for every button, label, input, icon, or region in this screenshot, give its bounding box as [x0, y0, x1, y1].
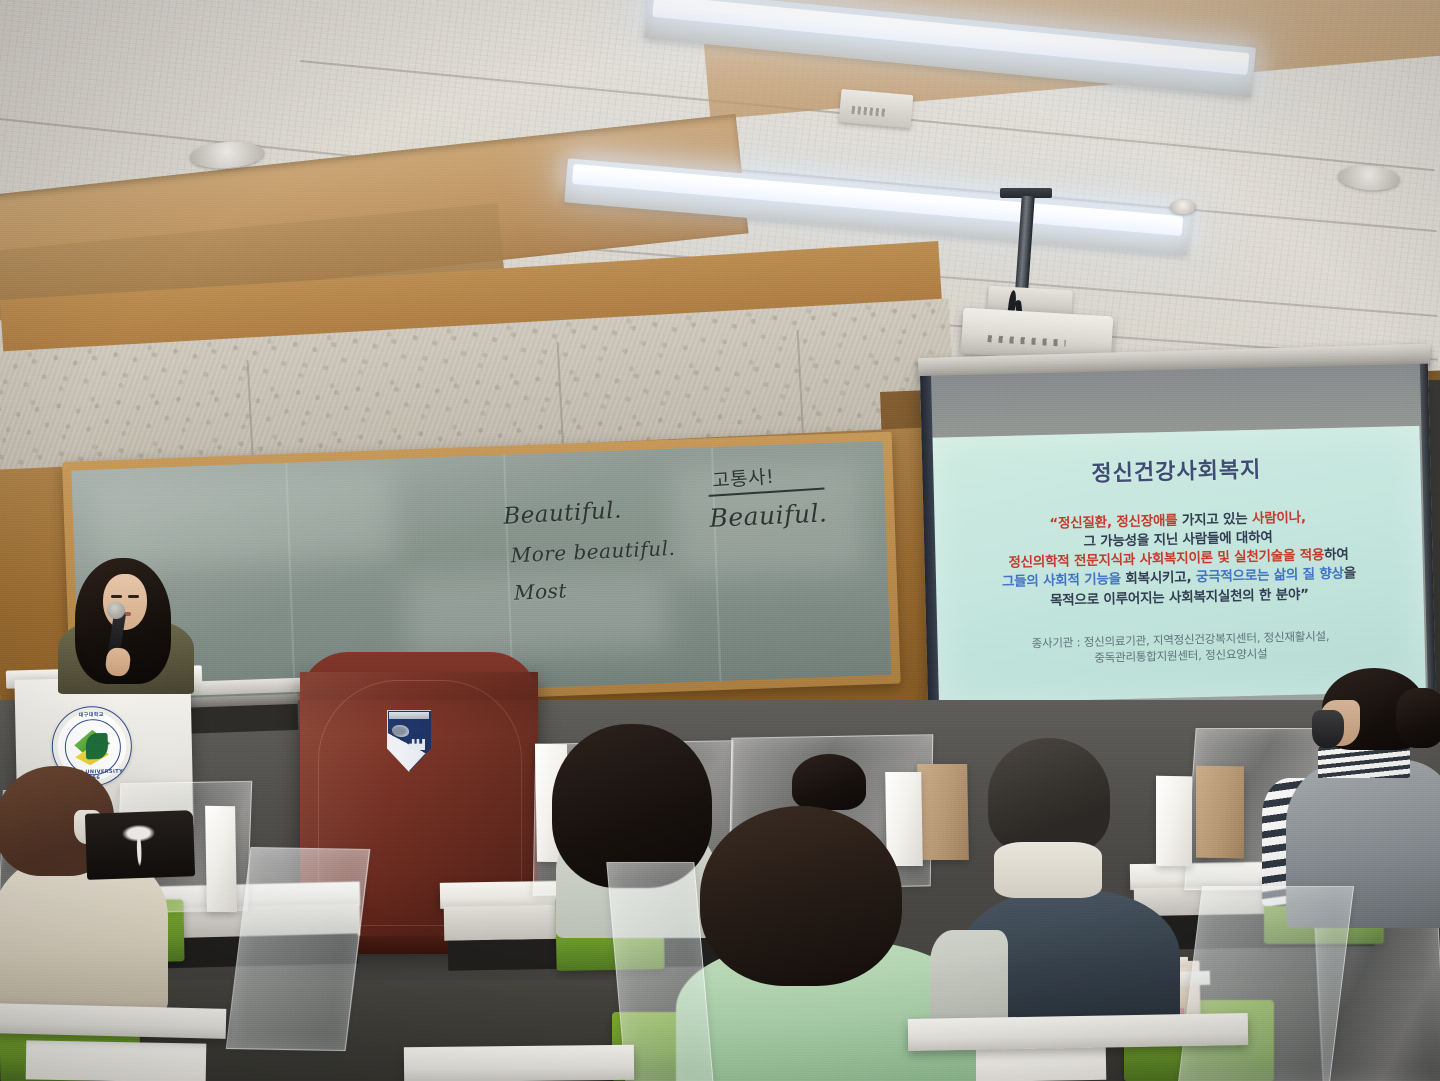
acrylic-divider-foreground: [1178, 886, 1354, 1081]
slide-text-segment: 하여: [1324, 547, 1349, 564]
student-center-front-hair: [700, 806, 902, 986]
lectern-shelf-shadow: [176, 704, 299, 734]
slide-text-segment: 그 가능성을 지닌 사람들에 대하여: [1083, 530, 1272, 551]
desk-foreground: [404, 1045, 634, 1081]
slide-text-segment: 궁극적으로는 삶의 질 향상: [1196, 566, 1344, 586]
whiteboard-text-line-2: More beautiful.: [510, 536, 676, 567]
presenter-eye: [111, 595, 122, 598]
whiteboard-korean-note: 고통사!: [711, 462, 775, 493]
slide-title: 정신건강사회복지: [946, 448, 1407, 491]
slide-text-segment: 사람이나,: [1252, 510, 1306, 527]
lecture-hall-photo: Beautiful. More beautiful. Most 고통사! Bea…: [0, 0, 1440, 1081]
black-tote-bag: [85, 810, 195, 880]
whiteboard-text-line-4: Beauiful.: [709, 498, 828, 533]
slide-text-segment: 가지고 있는: [1182, 511, 1252, 529]
printed-handout: [26, 1040, 207, 1081]
paper-bag-brown: [917, 764, 969, 860]
desk-foreground: [0, 1003, 226, 1039]
attendee-gray-hair: [988, 738, 1110, 854]
presenter-face: [103, 574, 147, 630]
projected-slide: 정신건강사회복지 “정신질환, 정신장애를 가지고 있는 사람이나,그 가능성을…: [932, 426, 1426, 704]
student-behind-head: [792, 754, 866, 810]
slide-footer: 종사기관 : 정신의료기관, 지역정신건강복지센터, 정신재활시설,중독관리통합…: [950, 626, 1411, 671]
sprinkler-head-icon: [1170, 200, 1196, 214]
tree-print-icon: [115, 823, 162, 867]
seal-text-top: 대구대학교: [52, 710, 130, 719]
paper-bag-white: [205, 806, 237, 913]
paper-bag-white: [885, 772, 923, 866]
presenter-eye: [128, 595, 139, 598]
ceiling-speaker-unit: [839, 89, 914, 128]
slide-text-segment: 그들의 사회적 기능을: [1002, 572, 1126, 591]
paper-bag-brown: [1196, 766, 1244, 859]
slide-text-segment: “정신질환, 정신장애를: [1049, 513, 1182, 532]
whiteboard-text-line-3: Most: [514, 578, 568, 604]
slide-quote-block: “정신질환, 정신장애를 가지고 있는 사람이나,그 가능성을 지닌 사람들에 …: [947, 506, 1409, 613]
desk-foreground: [908, 1013, 1249, 1051]
slide-text-segment: 을: [1344, 566, 1357, 582]
black-face-mask-icon: [1312, 710, 1344, 748]
slide-text-segment: 회복시키고,: [1125, 570, 1196, 588]
printed-handout: [956, 1045, 1107, 1081]
acrylic-divider-foreground: [226, 847, 371, 1051]
paper-bag-white: [1156, 776, 1192, 867]
attendee-far-right-head: [1396, 688, 1440, 748]
whiteboard-text-line-1: Beautiful.: [503, 498, 623, 530]
attendee-collar: [994, 842, 1102, 898]
